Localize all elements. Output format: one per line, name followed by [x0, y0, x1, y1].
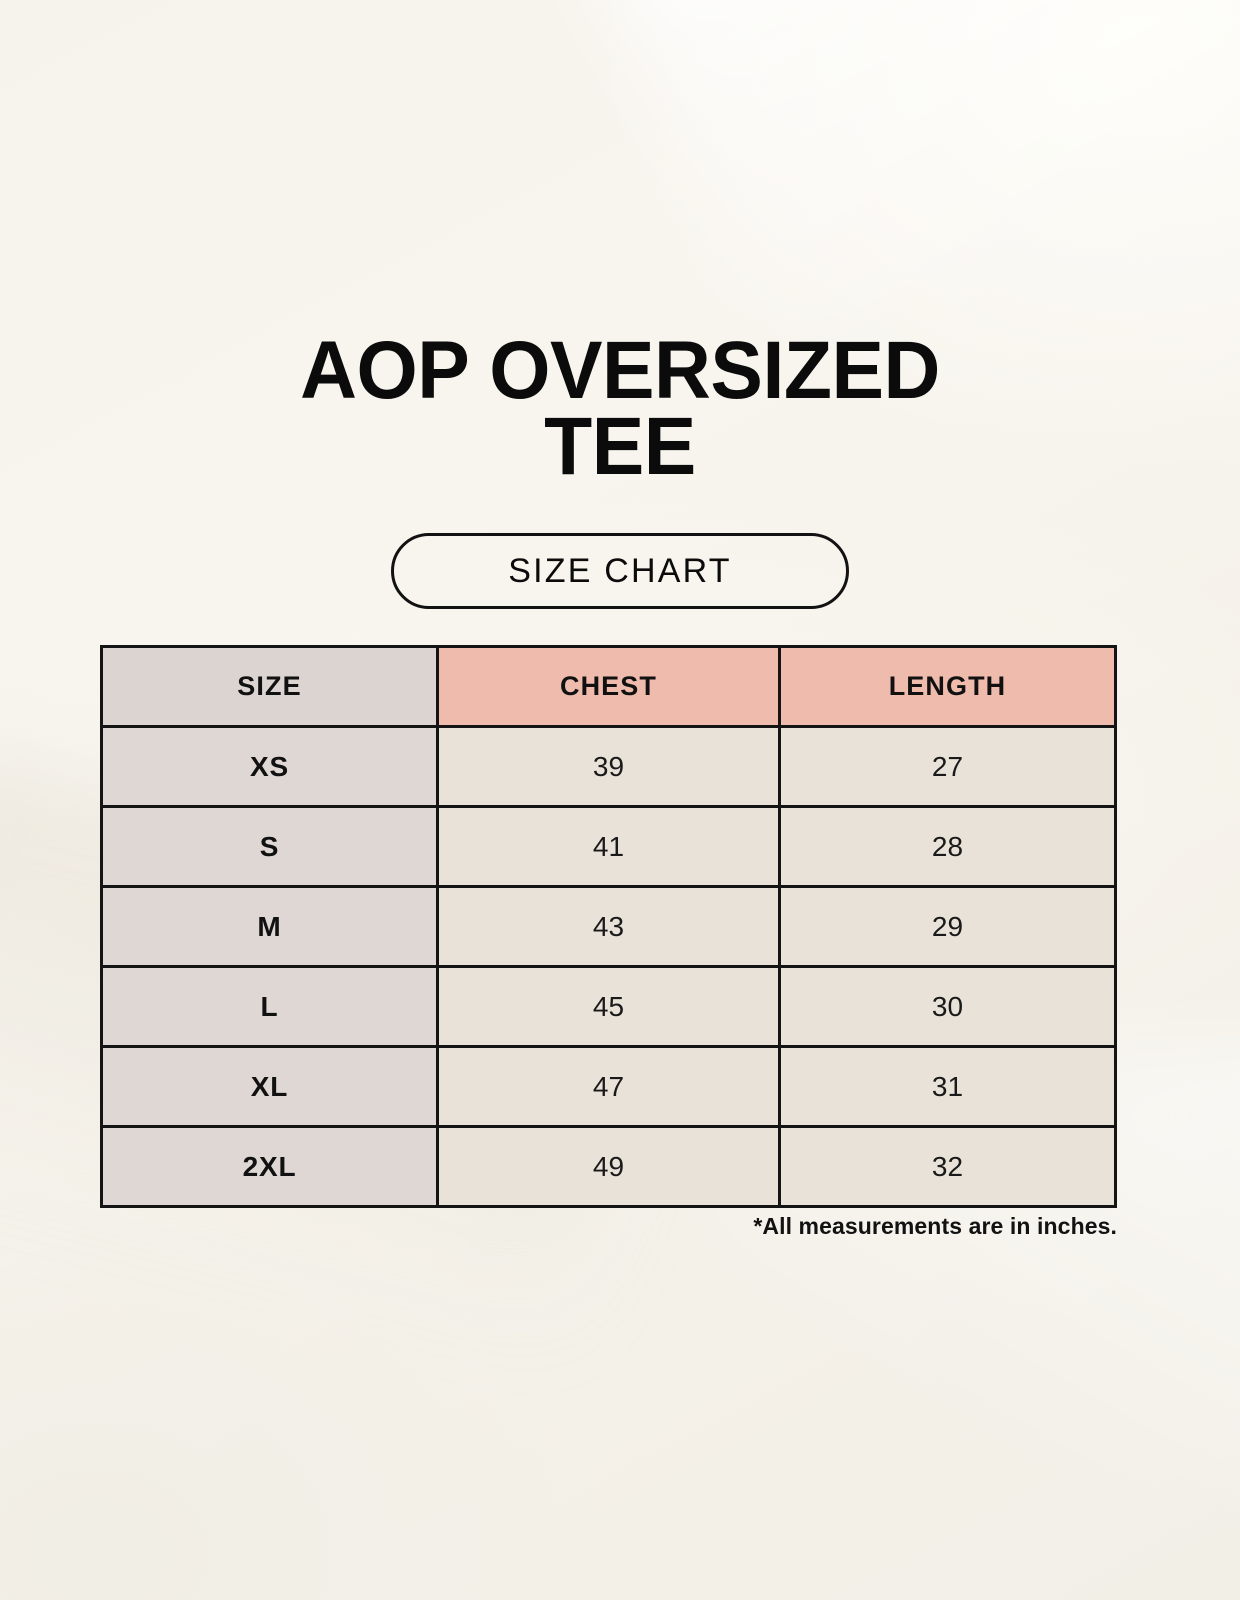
cell-chest: 39	[437, 727, 779, 807]
cell-length: 29	[779, 887, 1115, 967]
page-title-line-1: AOP OVERSIZED	[25, 333, 1215, 409]
table-header-row: SIZE CHEST LENGTH	[102, 647, 1116, 727]
table-header: SIZE CHEST LENGTH	[102, 647, 1116, 727]
cell-chest: 47	[437, 1047, 779, 1127]
size-chart-table: SIZE CHEST LENGTH XS 39 27 S 41 28 M 43 …	[100, 645, 1117, 1208]
table-body: XS 39 27 S 41 28 M 43 29 L 45 30 XL 47	[102, 727, 1116, 1207]
cell-length: 27	[779, 727, 1115, 807]
table-row: 2XL 49 32	[102, 1127, 1116, 1207]
table-row: XL 47 31	[102, 1047, 1116, 1127]
cell-length: 32	[779, 1127, 1115, 1207]
cell-size: XS	[102, 727, 438, 807]
table-row: S 41 28	[102, 807, 1116, 887]
page-title: AOP OVERSIZED TEE	[25, 333, 1215, 485]
page-title-line-2: TEE	[25, 409, 1215, 485]
badge-container: SIZE CHART	[0, 533, 1240, 609]
table-row: L 45 30	[102, 967, 1116, 1047]
cell-length: 28	[779, 807, 1115, 887]
cell-chest: 45	[437, 967, 779, 1047]
cell-chest: 43	[437, 887, 779, 967]
size-chart-badge: SIZE CHART	[391, 533, 849, 609]
table-row: XS 39 27	[102, 727, 1116, 807]
table-row: M 43 29	[102, 887, 1116, 967]
measurement-units-note: *All measurements are in inches.	[0, 1213, 1117, 1240]
cell-size: S	[102, 807, 438, 887]
cell-chest: 41	[437, 807, 779, 887]
cell-size: M	[102, 887, 438, 967]
cell-size: XL	[102, 1047, 438, 1127]
column-header-size: SIZE	[102, 647, 438, 727]
cell-size: L	[102, 967, 438, 1047]
cell-length: 31	[779, 1047, 1115, 1127]
cell-chest: 49	[437, 1127, 779, 1207]
size-chart-page: AOP OVERSIZED TEE SIZE CHART SIZE CHEST …	[0, 0, 1240, 1600]
cell-size: 2XL	[102, 1127, 438, 1207]
column-header-chest: CHEST	[437, 647, 779, 727]
column-header-length: LENGTH	[779, 647, 1115, 727]
cell-length: 30	[779, 967, 1115, 1047]
